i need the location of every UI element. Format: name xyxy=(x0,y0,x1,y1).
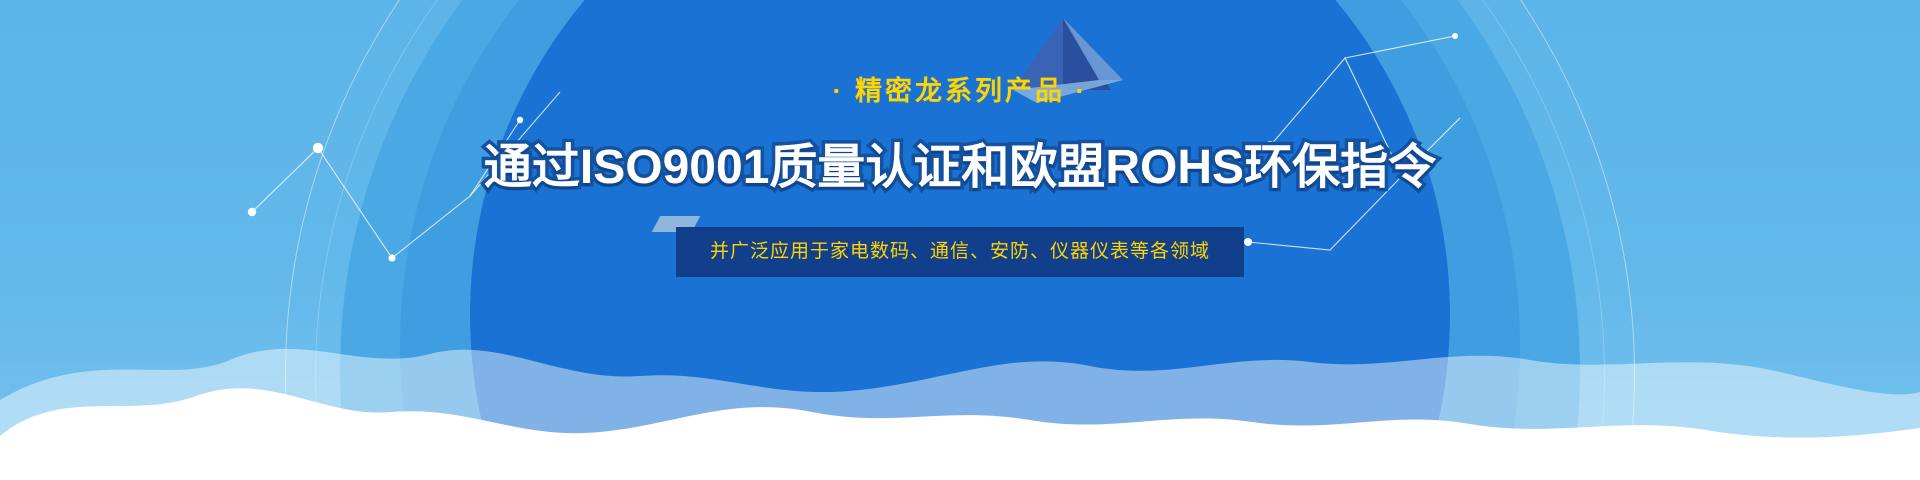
banner-title: 通过ISO9001质量认证和欧盟ROHS环保指令 xyxy=(484,127,1436,197)
banner-tagline: · 精密龙系列产品 · xyxy=(833,78,1088,105)
banner-ribbon-text: 并广泛应用于家电数码、通信、安防、仪器仪表等各领域 xyxy=(676,227,1244,277)
banner-content: · 精密龙系列产品 · 通过ISO9001质量认证和欧盟ROHS环保指令 并广泛… xyxy=(0,0,1920,480)
banner-ribbon-wrap: 并广泛应用于家电数码、通信、安防、仪器仪表等各领域 xyxy=(676,227,1244,277)
promo-banner: · 精密龙系列产品 · 通过ISO9001质量认证和欧盟ROHS环保指令 并广泛… xyxy=(0,0,1920,480)
